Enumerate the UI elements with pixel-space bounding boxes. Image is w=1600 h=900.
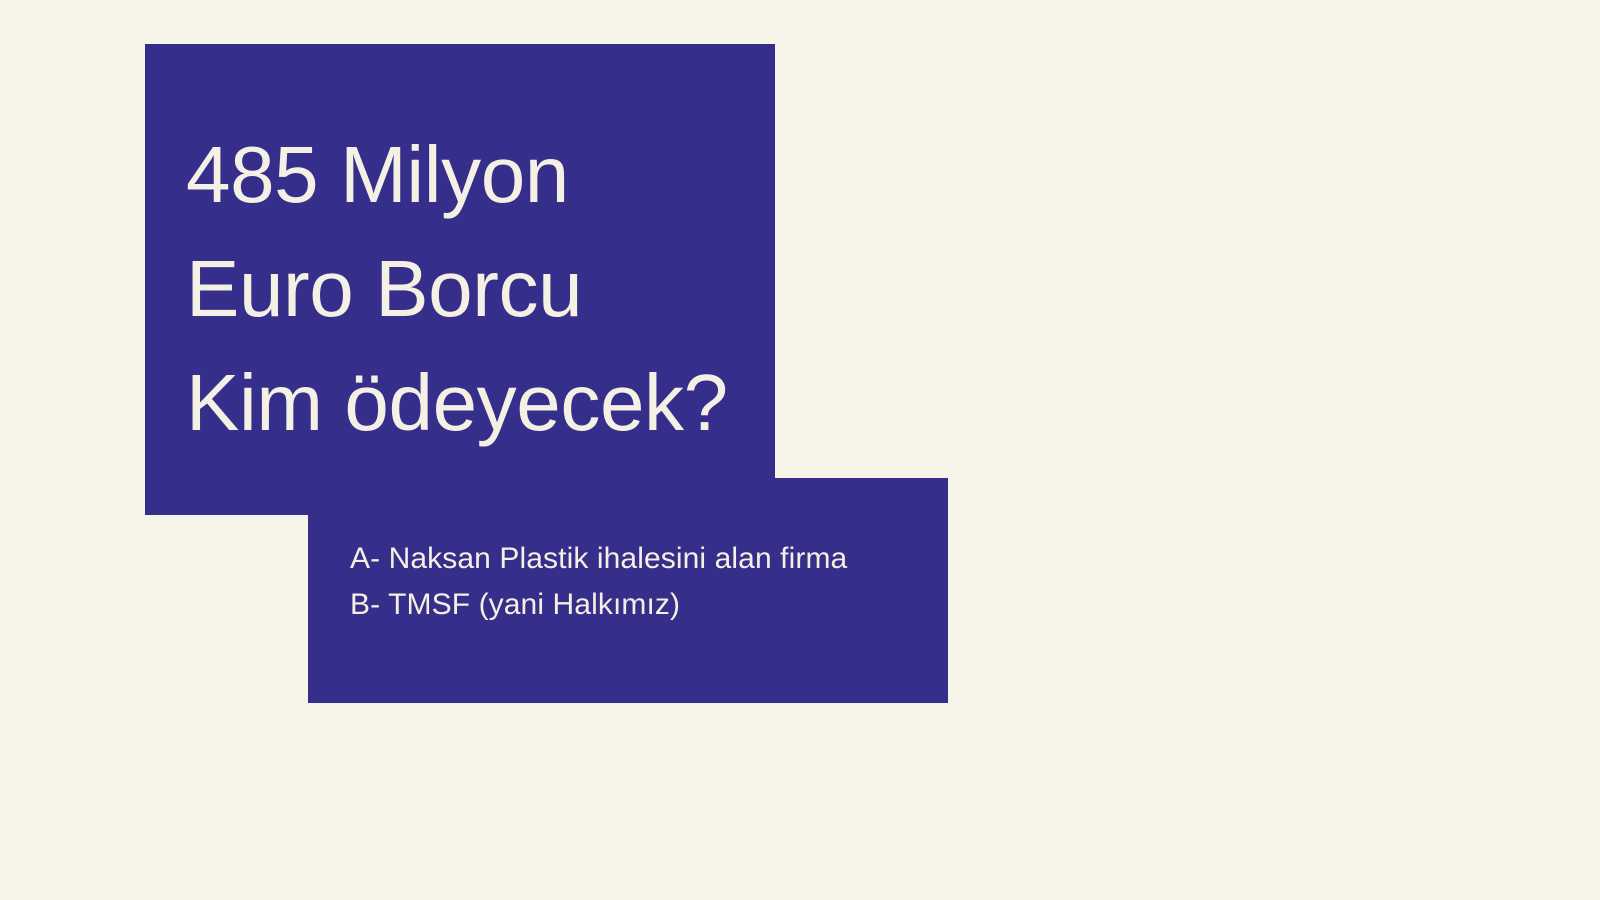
headline-line-1: 485 Milyon xyxy=(186,118,746,232)
headline-text-block: 485 Milyon Euro Borcu Kim ödeyecek? xyxy=(186,118,746,460)
poster-canvas: 485 Milyon Euro Borcu Kim ödeyecek? A- N… xyxy=(0,0,1600,900)
answers-panel: A- Naksan Plastik ihalesini alan firma B… xyxy=(308,478,948,703)
answer-option-a: A- Naksan Plastik ihalesini alan firma xyxy=(350,536,930,582)
headline-panel: 485 Milyon Euro Borcu Kim ödeyecek? xyxy=(145,44,775,515)
answers-text-block: A- Naksan Plastik ihalesini alan firma B… xyxy=(350,536,930,628)
answer-option-b: B- TMSF (yani Halkımız) xyxy=(350,582,930,628)
headline-line-3: Kim ödeyecek? xyxy=(186,346,746,460)
headline-line-2: Euro Borcu xyxy=(186,232,746,346)
